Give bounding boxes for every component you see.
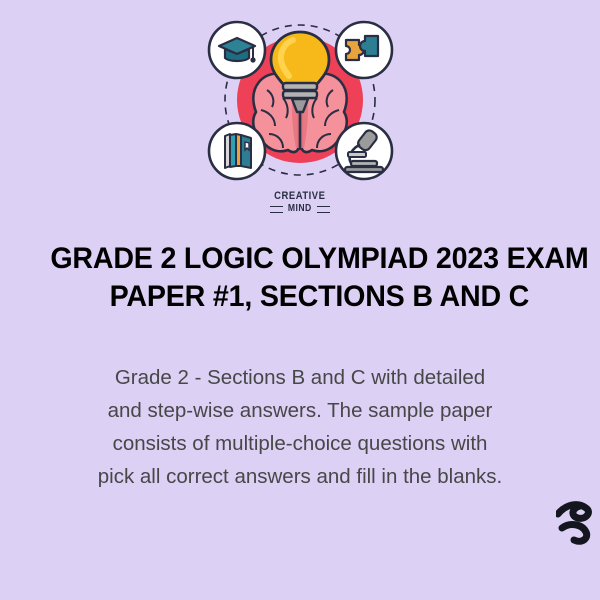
logo-wordmark: CREATIVE MIND [270,191,330,214]
books-icon [209,123,265,179]
wordmark-rule-left [270,206,283,213]
script-flourish-decoration [556,498,600,558]
page-title-line-1: GRADE 2 LOGIC OLYMPIAD 2023 EXAM [9,240,600,278]
script-flourish-icon [556,498,600,558]
wordmark-mind: MIND [288,204,312,214]
poster-canvas: CREATIVE MIND GRADE 2 LOGIC OLYMPIAD 202… [0,0,600,600]
puzzle-piece-icon [336,22,392,78]
creative-mind-logo: CREATIVE MIND [0,8,600,228]
page-title: GRADE 2 LOGIC OLYMPIAD 2023 EXAM PAPER #… [9,240,600,316]
wordmark-creative: CREATIVE [274,191,325,202]
graduation-cap-icon [209,22,265,78]
wordmark-mind-row: MIND [270,204,330,214]
description-text: Grade 2 - Sections B and C with detailed… [95,361,505,494]
logo-illustration [193,8,408,193]
page-title-line-2: PAPER #1, SECTIONS B AND C [9,278,600,316]
wordmark-rule-right [317,206,330,213]
logo-artwork [193,8,408,193]
microscope-icon [336,123,392,179]
